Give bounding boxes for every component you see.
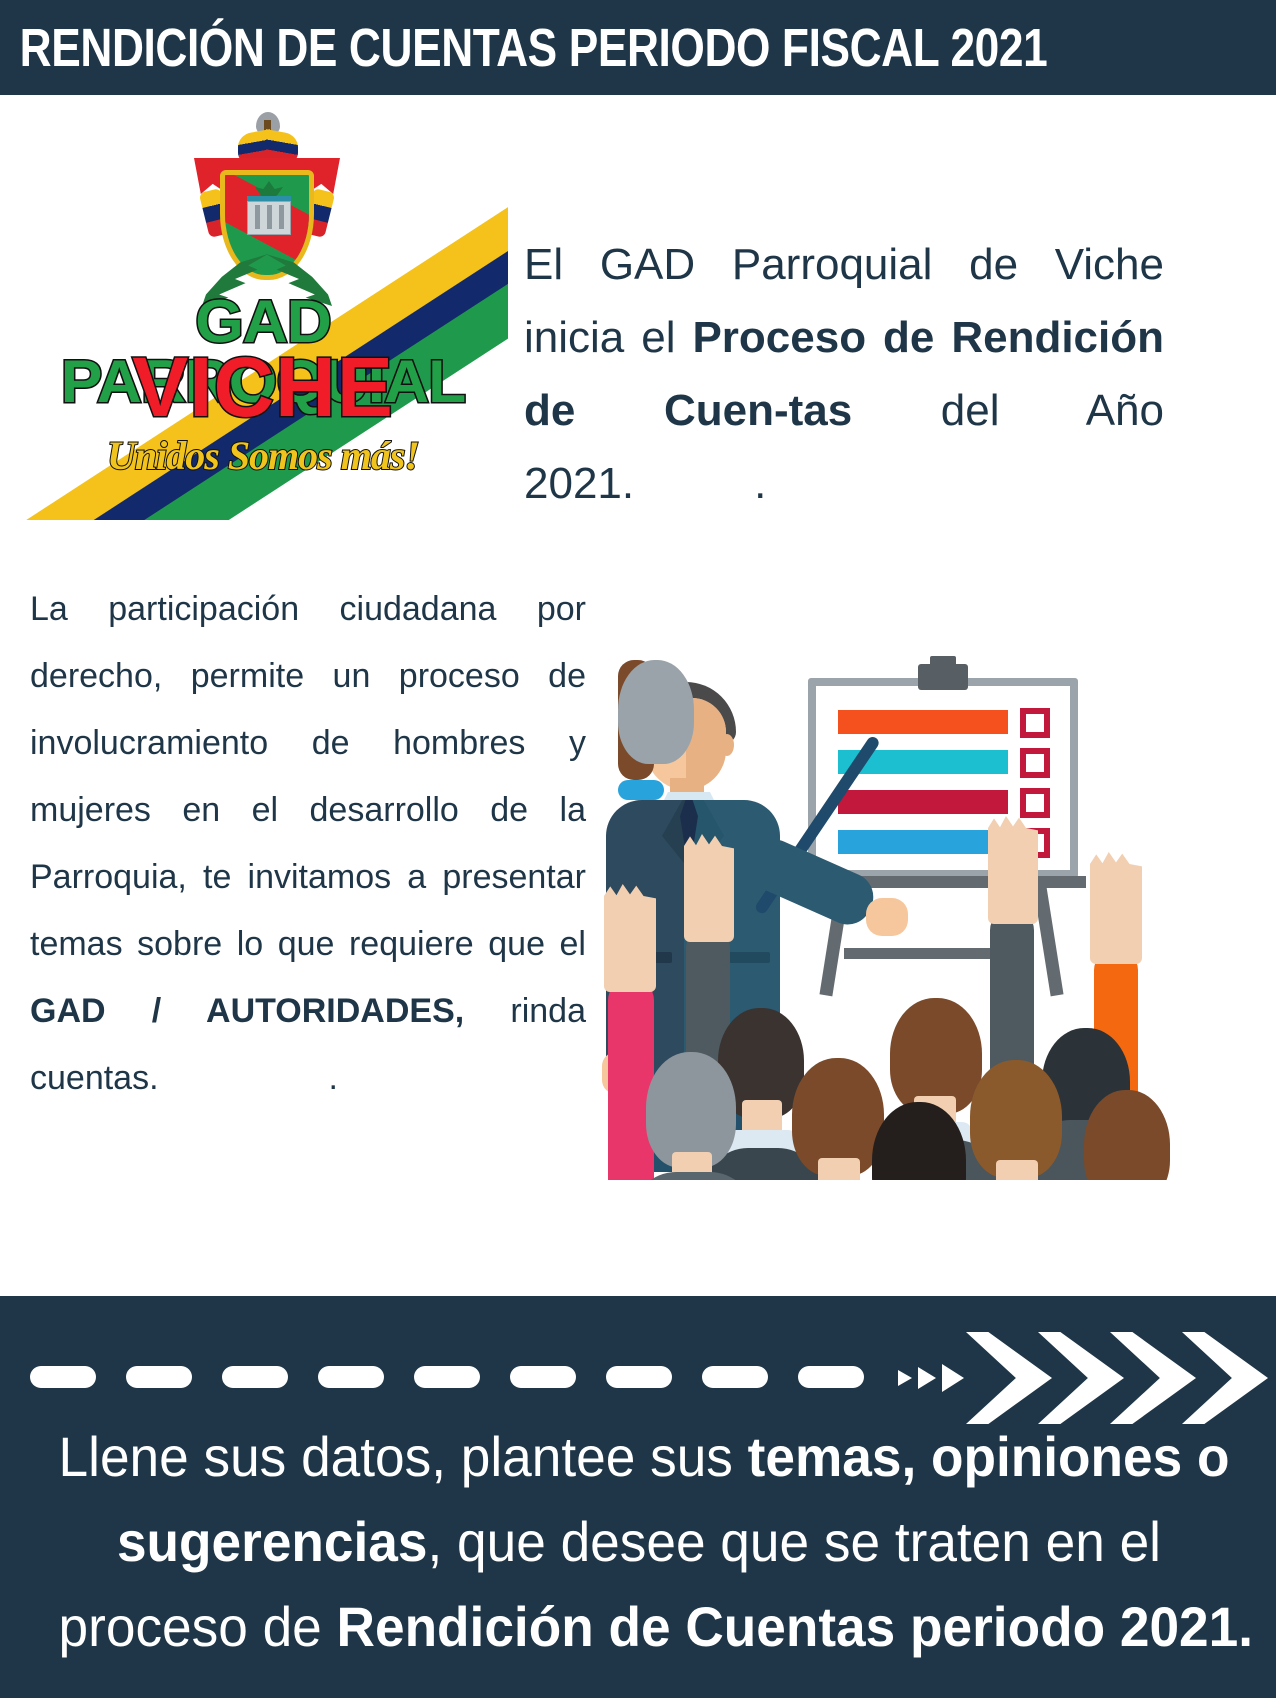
audience-head xyxy=(646,1052,736,1168)
body-paragraph: La participación ciudadana por derecho, … xyxy=(30,576,586,1112)
checkbox-icon xyxy=(1020,748,1050,778)
divider-dash xyxy=(798,1366,864,1388)
divider-triangle-icon xyxy=(898,1370,912,1386)
footer-section: Llene sus datos, plantee sus temas, opin… xyxy=(0,1296,1276,1698)
header-bar: RENDICIÓN DE CUENTAS PERIODO FISCAL 2021 xyxy=(0,0,1276,95)
chart-bar-blue xyxy=(838,830,1008,854)
chart-bar-orange xyxy=(838,710,1008,734)
divider-triangle-icon xyxy=(942,1364,964,1392)
body-text-bold: GAD / AUTORIDADES, xyxy=(30,992,464,1030)
footer-line-3: proceso de Rendición de Cuentas periodo … xyxy=(59,1584,1220,1669)
building-column-icon xyxy=(267,205,272,229)
building-column-icon xyxy=(255,205,260,229)
intro-paragraph: El GAD Parroquial de Viche inicia el Pro… xyxy=(524,228,1164,520)
presenter-hand-right xyxy=(866,898,908,936)
divider-dash xyxy=(126,1366,192,1388)
footer-callout: Llene sus datos, plantee sus temas, opin… xyxy=(59,1414,1220,1669)
raised-arm-pink xyxy=(608,980,654,1180)
audience-person xyxy=(618,660,694,764)
body-trailing-mark: . xyxy=(159,1059,338,1097)
divider-dash xyxy=(30,1366,96,1388)
intro-trailing-mark: . xyxy=(634,459,766,508)
divider-dash xyxy=(606,1366,672,1388)
body-text-part1: La participación ciudadana por derecho, … xyxy=(30,590,586,963)
checkbox-icon xyxy=(1020,708,1050,738)
divider-dash xyxy=(414,1366,480,1388)
board-clip-icon xyxy=(918,664,968,690)
illustration-bottom-mask xyxy=(0,1180,1276,1296)
chart-bar-crimson xyxy=(838,790,1008,814)
divider-dash xyxy=(222,1366,288,1388)
page-title: RENDICIÓN DE CUENTAS PERIODO FISCAL 2021 xyxy=(0,21,1047,75)
footer-line3-bold: Rendición de Cuentas periodo 2021. xyxy=(337,1595,1253,1658)
footer-line2-normal: , que desee que se traten en el xyxy=(427,1510,1161,1573)
footer-line3-normal: proceso de xyxy=(59,1595,337,1658)
divider-triangle-icon xyxy=(918,1367,936,1389)
gad-parroquial-viche-logo: GAD PARROQUIAL VICHE Unidos Somos más! xyxy=(18,100,508,520)
building-column-icon xyxy=(279,205,284,229)
footer-line-1: Llene sus datos, plantee sus temas, opin… xyxy=(59,1414,1220,1499)
divider-dash xyxy=(510,1366,576,1388)
audience-hair-tie xyxy=(618,780,664,800)
hand-fingers-icon xyxy=(1090,852,1142,892)
footer-line2-bold: sugerencias xyxy=(117,1510,428,1573)
footer-line1-bold: temas, opiniones o xyxy=(748,1425,1230,1488)
checkbox-icon xyxy=(1020,788,1050,818)
divider-dash xyxy=(702,1366,768,1388)
dashed-arrow-divider xyxy=(0,1334,1276,1420)
coat-of-arms-icon xyxy=(186,114,346,324)
presenter-ear-right xyxy=(720,734,734,756)
shield-icon xyxy=(220,170,314,280)
footer-line1-normal: Llene sus datos, plantee sus xyxy=(59,1425,748,1488)
audience-hair-highlight xyxy=(618,660,694,764)
divider-chevron-icon xyxy=(966,1332,1052,1424)
footer-line-2: sugerencias, que desee que se traten en … xyxy=(59,1499,1220,1584)
meeting-illustration xyxy=(618,660,1158,1180)
divider-dash xyxy=(318,1366,384,1388)
